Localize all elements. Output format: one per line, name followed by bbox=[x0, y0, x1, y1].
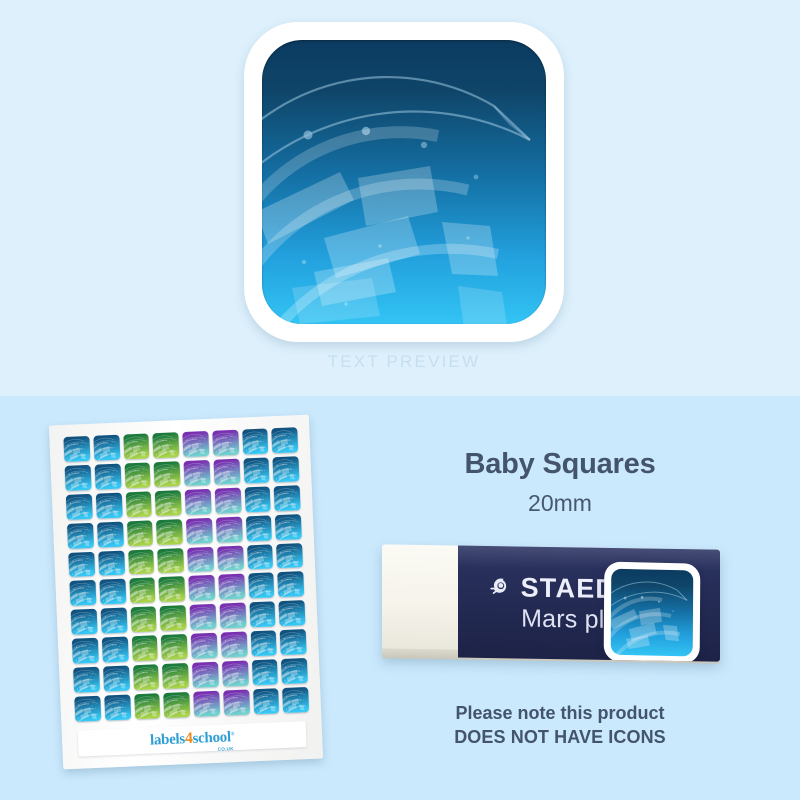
label-cell[interactable] bbox=[102, 637, 129, 663]
label-cell[interactable] bbox=[156, 519, 183, 545]
label-cell[interactable] bbox=[279, 600, 306, 626]
swoosh-pattern-icon bbox=[611, 569, 694, 657]
label-cell[interactable] bbox=[103, 666, 130, 692]
logo-part-3: school bbox=[192, 729, 231, 747]
preview-tile-frame bbox=[244, 22, 564, 342]
sheet-logo-bar: labels4school®CO.UK bbox=[78, 721, 307, 757]
product-title: Baby Squares bbox=[380, 448, 740, 481]
label-cell[interactable] bbox=[126, 520, 153, 546]
label-cell[interactable] bbox=[63, 436, 90, 462]
label-cell[interactable] bbox=[163, 692, 190, 718]
label-sheet[interactable]: labels4school®CO.UK bbox=[46, 414, 346, 774]
product-note-line-1: Please note this product bbox=[380, 702, 740, 726]
label-cell[interactable] bbox=[251, 659, 278, 685]
label-cell[interactable] bbox=[280, 629, 307, 655]
label-cell[interactable] bbox=[160, 605, 187, 631]
label-cell[interactable] bbox=[68, 551, 95, 577]
label-cell[interactable] bbox=[94, 464, 121, 490]
applied-label-artwork bbox=[611, 569, 694, 657]
label-preview[interactable]: TEXT PREVIEW bbox=[244, 22, 564, 342]
label-cell[interactable] bbox=[214, 487, 241, 513]
label-cell[interactable] bbox=[100, 608, 127, 634]
label-cell[interactable] bbox=[124, 462, 151, 488]
logo-trademark-icon: ® bbox=[231, 732, 235, 737]
label-cell[interactable] bbox=[131, 636, 158, 662]
label-cell[interactable] bbox=[275, 514, 302, 540]
mars-head-icon bbox=[487, 574, 513, 600]
label-cell[interactable] bbox=[247, 544, 274, 570]
label-cell[interactable] bbox=[278, 572, 305, 598]
label-cell[interactable] bbox=[97, 521, 124, 547]
label-cell[interactable] bbox=[125, 491, 152, 517]
label-cell[interactable] bbox=[187, 546, 214, 572]
product-preview-page: TEXT PREVIEW labels4school®CO.UK Baby Sq… bbox=[0, 0, 800, 800]
label-cell[interactable] bbox=[274, 485, 301, 511]
label-cell[interactable] bbox=[153, 432, 180, 458]
label-cell[interactable] bbox=[191, 633, 218, 659]
label-cell[interactable] bbox=[216, 516, 243, 542]
label-cell[interactable] bbox=[271, 427, 298, 453]
eraser-mockup: STAEDTLER Mars plastic bbox=[378, 543, 726, 675]
label-sheet-paper: labels4school®CO.UK bbox=[49, 415, 323, 770]
label-cell[interactable] bbox=[212, 430, 239, 456]
label-cell[interactable] bbox=[69, 580, 96, 606]
label-cell[interactable] bbox=[222, 661, 249, 687]
label-cell[interactable] bbox=[213, 459, 240, 485]
label-cell[interactable] bbox=[186, 518, 213, 544]
label-cell[interactable] bbox=[217, 545, 244, 571]
label-cell[interactable] bbox=[157, 548, 184, 574]
label-cell[interactable] bbox=[130, 607, 157, 633]
logo-domain: CO.UK bbox=[218, 746, 234, 752]
label-cell[interactable] bbox=[282, 687, 309, 713]
label-cell[interactable] bbox=[74, 696, 101, 722]
label-cell[interactable] bbox=[129, 578, 156, 604]
swoosh-pattern-icon bbox=[262, 40, 546, 324]
label-cell[interactable] bbox=[249, 602, 276, 628]
preview-tile-artwork bbox=[262, 40, 546, 324]
label-cell[interactable] bbox=[123, 433, 150, 459]
label-grid bbox=[63, 427, 309, 722]
label-cell[interactable] bbox=[65, 465, 92, 491]
label-cell[interactable] bbox=[96, 492, 123, 518]
label-cell[interactable] bbox=[73, 667, 100, 693]
label-cell[interactable] bbox=[223, 690, 250, 716]
label-cell[interactable] bbox=[218, 574, 245, 600]
label-cell[interactable] bbox=[192, 662, 219, 688]
label-cell[interactable] bbox=[182, 431, 209, 457]
label-cell[interactable] bbox=[273, 456, 300, 482]
label-cell[interactable] bbox=[185, 489, 212, 515]
label-cell[interactable] bbox=[193, 691, 220, 717]
label-cell[interactable] bbox=[242, 428, 269, 454]
label-cell[interactable] bbox=[98, 550, 125, 576]
label-cell[interactable] bbox=[159, 577, 186, 603]
label-cell[interactable] bbox=[104, 695, 131, 721]
label-cell[interactable] bbox=[67, 523, 94, 549]
label-cell[interactable] bbox=[188, 575, 215, 601]
label-cell[interactable] bbox=[276, 543, 303, 569]
label-cell[interactable] bbox=[243, 457, 270, 483]
product-note-line-2: DOES NOT HAVE ICONS bbox=[380, 726, 740, 750]
logo-part-1: labels bbox=[150, 731, 186, 748]
label-cell[interactable] bbox=[244, 486, 271, 512]
label-cell[interactable] bbox=[66, 494, 93, 520]
product-size: 20mm bbox=[380, 490, 740, 517]
product-note: Please note this product DOES NOT HAVE I… bbox=[380, 702, 740, 750]
label-cell[interactable] bbox=[93, 435, 120, 461]
label-cell[interactable] bbox=[128, 549, 155, 575]
label-cell[interactable] bbox=[190, 604, 217, 630]
label-cell[interactable] bbox=[72, 638, 99, 664]
label-cell[interactable] bbox=[154, 461, 181, 487]
label-cell[interactable] bbox=[99, 579, 126, 605]
label-cell[interactable] bbox=[184, 460, 211, 486]
label-cell[interactable] bbox=[250, 631, 277, 657]
labels4school-logo: labels4school®CO.UK bbox=[150, 728, 235, 750]
applied-label-sticker bbox=[604, 562, 701, 662]
label-cell[interactable] bbox=[245, 515, 272, 541]
label-cell[interactable] bbox=[281, 658, 308, 684]
label-cell[interactable] bbox=[133, 664, 160, 690]
label-cell[interactable] bbox=[248, 573, 275, 599]
label-cell[interactable] bbox=[71, 609, 98, 635]
label-cell[interactable] bbox=[219, 603, 246, 629]
eraser-sleeve: STAEDTLER Mars plastic bbox=[458, 546, 720, 662]
label-cell[interactable] bbox=[162, 663, 189, 689]
label-cell[interactable] bbox=[155, 490, 182, 516]
label-cell[interactable] bbox=[253, 688, 280, 714]
label-cell[interactable] bbox=[220, 632, 247, 658]
label-cell[interactable] bbox=[161, 634, 188, 660]
preview-caption: TEXT PREVIEW bbox=[244, 352, 564, 372]
label-cell[interactable] bbox=[134, 693, 161, 719]
